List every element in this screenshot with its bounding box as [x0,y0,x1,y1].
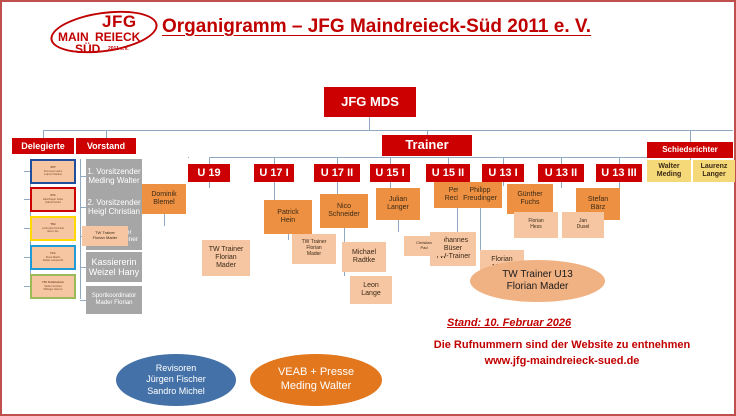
team-u-15-i: U 15 I [370,164,410,182]
team-stem-4 [448,157,449,164]
team-label-7: U 13 III [601,167,636,180]
ellipse-revisoren: Revisoren Jürgen Fischer Sandro Michel [116,354,236,406]
revisoren-line3: Sandro Michel [146,386,206,397]
sub-7-0-line-1: Dusel [577,225,590,231]
root-stem [369,117,370,130]
team-label-5: U 13 I [488,167,517,180]
coach-3-line-0: Julian [389,196,407,204]
delegierte-item-3-line-2: Stefan Lamprecht [43,259,63,263]
team-label-6: U 13 II [545,167,577,180]
team-stem-6 [561,157,562,164]
vorstand-item-3: KassiererinWeizel Hany [86,252,142,282]
stand-date: Stand: 10. Februar 2026 [447,317,571,329]
sub-link-3-0 [398,220,399,232]
sub-2-2-line-0: Leon [363,282,379,290]
coach-6: GüntherFuchs [507,184,553,214]
coach-1-line-0: Patrick [277,209,298,217]
vorstand-item-3-name: Weizel Hany [89,267,139,277]
team-stem-5 [503,157,504,164]
schiedsrichter-0: WalterMeding [647,160,691,182]
coach-6-line-1: Fuchs [520,199,539,207]
team-stem-7 [619,157,620,164]
sub-0-0: TW TrainerFlorian Mader [82,226,128,246]
coach-link-6 [561,182,562,188]
team-u-13-iii: U 13 III [596,164,642,182]
schiedsrichter-1-line-1: Langer [702,171,725,179]
sub-1-0-line-2: Mader [216,262,236,270]
schiedsrichter-0-line-0: Walter [658,163,679,171]
sub-4-0: ChristianPad [404,236,444,256]
coach-5-line-0: Philipp [469,187,490,195]
vorstand-spine [80,159,81,299]
veab-line2: Meding Walter [278,380,354,394]
coach-link-5 [503,182,504,186]
coach-6-line-0: Günther [517,191,542,199]
delegierte-item-4-line-2: Willinger Helmut [44,288,63,292]
delegierte-item-0: SPVKimmerer HeinzLeipner Markus [30,159,76,184]
header-schiedsrichter: Schiedsrichter [647,142,733,158]
coach-2-line-0: Nico [337,203,351,211]
team-u-13-i: U 13 I [482,164,524,182]
revisoren-line1: Revisoren [146,363,206,374]
delegierte-item-2-line-2: Ebert Jan [47,230,58,234]
vorstand-item-3-role: Kassiererin [91,257,136,267]
footer-note-line1: Die Rufnummern sind der Website zu entne… [402,338,722,354]
coach-7-line-1: Bärz [591,204,605,212]
coach-5: PhilippFreudinger [458,182,502,208]
coach-3-line-1: Langer [387,204,409,212]
coach-3: JulianLanger [376,188,420,220]
schiedsrichter-0-line-1: Meding [657,171,682,179]
root-node-jfg-mds: JFG MDS [324,87,416,117]
header-delegierte-label: Delegierte [21,141,65,151]
sub-2-2: LeonLange [350,276,392,304]
vorstand-item-4-role: Sportkoordinator [92,293,136,300]
logo-sued-text: SÜD [75,42,100,56]
vorstand-item-1-role: 2. Vorsitzender [87,198,140,207]
team-label-3: U 15 I [375,167,404,180]
coach-1-line-1: Hein [281,217,295,225]
vorstand-item-0: 1. VorsitzenderMeding Walter [86,159,142,193]
team-label-2: U 17 II [321,167,353,180]
team-u-17-i: U 17 I [254,164,294,182]
jfg-logo: JFG MAIN REIECK SÜD 2011 e.V. [50,6,158,58]
header-trainer-label: Trainer [405,138,448,153]
team-label-0: U 19 [197,167,220,180]
sub-link-0-0 [164,214,165,226]
sub-1-0-line-1: Florian [215,254,236,262]
sub-6-0: FlorianHess [514,212,558,238]
logo-jfg-text: JFG [102,12,137,32]
team-label-4: U 15 II [432,167,464,180]
sub-link-5-0 [480,208,481,250]
coach-1: PatrickHein [264,200,312,234]
sub-link-1-0 [288,234,289,240]
header-schiedsrichter-label: Schiedsrichter [662,145,718,154]
tmp [188,157,189,158]
schiedsrichter-1-line-0: Laurenz [701,163,728,171]
sub-6-0-line-1: Hess [530,225,541,231]
sub-2-1-line-0: Michael [352,249,376,257]
organigramm-page: JFG MAIN REIECK SÜD 2011 e.V. Organigram… [0,0,736,416]
tw-u13-line2: Florian Mader [502,281,573,294]
delegierte-item-1-line-2: Gabriel André [45,201,61,205]
delegierte-item-2: TSGLehrmann DominikEbert Jan [30,216,76,241]
footer-note: Die Rufnummern sind der Website zu entne… [402,338,722,370]
coach-0: DominikBlemel [142,184,186,214]
team-u-15-ii: U 15 II [426,164,470,182]
logo-year-text: 2011 e.V. [108,46,129,52]
trainer-bus [209,157,649,158]
coach-link-0 [209,182,210,188]
team-u-13-ii: U 13 II [538,164,584,182]
root-node-label: JFG MDS [341,95,399,110]
vorstand-item-1-name: Heigl Christian [88,207,140,216]
team-stem-2 [337,157,338,164]
coach-0-line-0: Dominik [151,191,176,199]
coach-2: NicoSchneider [320,194,368,228]
team-stem-1 [274,157,275,164]
sub-3-0-line-1: Büser [444,245,462,253]
team-u-19: U 19 [188,164,230,182]
vorstand-item-0-role: 1. Vorsitzender [87,167,140,176]
coach-0-line-1: Blemel [153,199,174,207]
sub-2-1-line-1: Radtke [353,257,375,265]
team-stem-3 [390,157,391,164]
veab-line1: VEAB + Presse [278,366,354,380]
delegierte-item-4: TSV FränkischemSeiber GüntherWillinger H… [30,274,76,299]
vorstand-item-4-name: Mader Florian [95,300,132,307]
delegierte-item-0-line-2: Leipner Markus [44,173,62,177]
ellipse-veab-presse: VEAB + Presse Meding Walter [250,354,382,406]
sub-2-0-line-2: Mader [307,252,321,258]
bus-drop-schiedsrichter [690,130,691,142]
page-title: Organigramm – JFG Maindreieck-Süd 2011 e… [162,16,591,38]
sub-1-0-line-0: TW Trainer [209,246,244,254]
sub-2-2-line-1: Lange [361,290,380,298]
top-bus [43,130,733,131]
bus-drop-delegierte [43,130,44,138]
sub-1-0: TW TrainerFlorianMader [202,240,250,276]
coach-7-line-0: Stefan [588,196,608,204]
header-vorstand-label: Vorstand [87,141,125,151]
delegierte-item-3: FCAKlose MartinStefan Lamprecht [30,245,76,270]
logo-dreieck-text: REIECK [95,30,140,44]
coach-5-line-1: Freudinger [463,195,497,203]
revisoren-line2: Jürgen Fischer [146,374,206,385]
sub-7-0: JanDusel [562,212,604,238]
footer-note-line2: www.jfg-maindreieck-sued.de [402,354,722,370]
vorstand-item-4: SportkoordinatorMader Florian [86,286,142,314]
team-u-17-ii: U 17 II [314,164,360,182]
sub-0-0-line-1: Florian Mader [93,236,118,241]
team-label-1: U 17 I [259,167,288,180]
bus-drop-vorstand [106,130,107,138]
coach-2-line-1: Schneider [328,211,360,219]
header-delegierte: Delegierte [12,138,74,154]
vorstand-item-1: 2. VorsitzenderHeigl Christian [86,190,142,224]
tw-u13-line1: TW Trainer U13 [502,269,573,282]
schiedsrichter-1: LaurenzLanger [693,160,735,182]
delegierte-item-1: SVAEltschlager SebaGabriel André [30,187,76,212]
sub-2-1: MichaelRadtke [342,242,386,272]
ellipse-tw-trainer-u13: TW Trainer U13 Florian Mader [470,260,605,302]
header-vorstand: Vorstand [76,138,136,154]
sub-4-0-line-1: Pad [420,246,427,251]
vorstand-item-0-name: Meding Walter [88,176,139,185]
header-trainer: Trainer [382,135,472,156]
sub-2-0: TW TrainerFlorianMader [292,234,336,264]
team-stem-0 [209,157,210,164]
